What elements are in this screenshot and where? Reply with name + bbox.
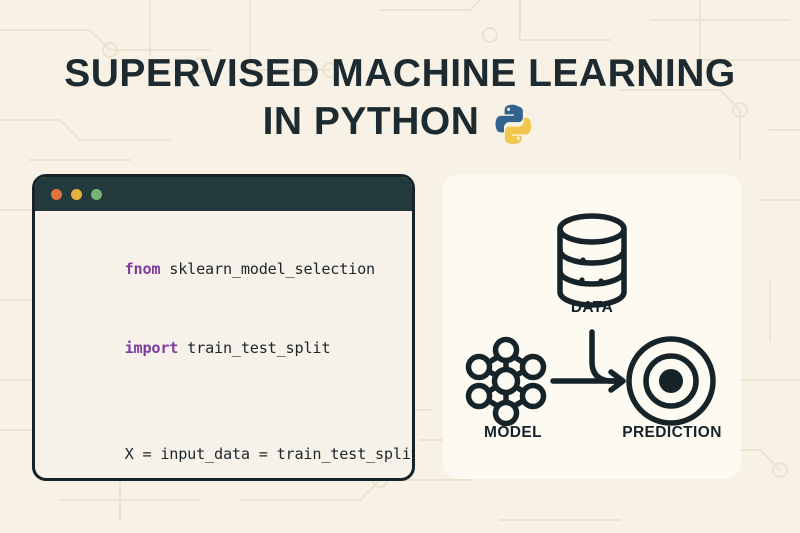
code-keyword: fnom: [125, 260, 161, 278]
code-editor-window: fnom sklearn_model_selection import trai…: [32, 174, 415, 481]
code-line: X = input_data = train_test_split): [53, 415, 412, 482]
diagram-label-data: DATA: [443, 299, 741, 317]
code-line: import train_test_split: [53, 309, 412, 389]
code-line-blank: [53, 388, 412, 415]
close-icon[interactable]: [51, 189, 62, 200]
minimize-icon[interactable]: [71, 189, 82, 200]
maximize-icon[interactable]: [91, 189, 102, 200]
ml-flow-diagram-panel: DATA MODEL PREDICTION: [443, 174, 741, 479]
code-text: train_test_split: [178, 339, 330, 357]
code-keyword: import: [125, 339, 179, 357]
code-text: X = input_data = train_test_split): [125, 445, 415, 463]
database-icon: [560, 216, 624, 305]
python-logo-icon: [491, 101, 537, 147]
code-text: sklearn_model_selection: [160, 260, 375, 278]
target-center-icon: [659, 369, 683, 393]
title-line-2-row: IN PYTHON: [0, 98, 800, 146]
code-window-titlebar[interactable]: [35, 177, 412, 211]
title-line-1: SUPERVISED MACHINE LEARNING: [0, 50, 800, 98]
neural-network-icon: [469, 340, 544, 424]
diagram-label-prediction: PREDICTION: [603, 424, 741, 442]
poster-canvas: SUPERVISED MACHINE LEARNING IN PYTHON fn…: [0, 0, 800, 533]
diagram-label-model: MODEL: [453, 424, 573, 442]
title-line-2: IN PYTHON: [263, 98, 480, 146]
page-title: SUPERVISED MACHINE LEARNING IN PYTHON: [0, 50, 800, 146]
code-content[interactable]: fnom sklearn_model_selection import trai…: [35, 211, 412, 481]
code-line: fnom sklearn_model_selection: [53, 229, 412, 309]
